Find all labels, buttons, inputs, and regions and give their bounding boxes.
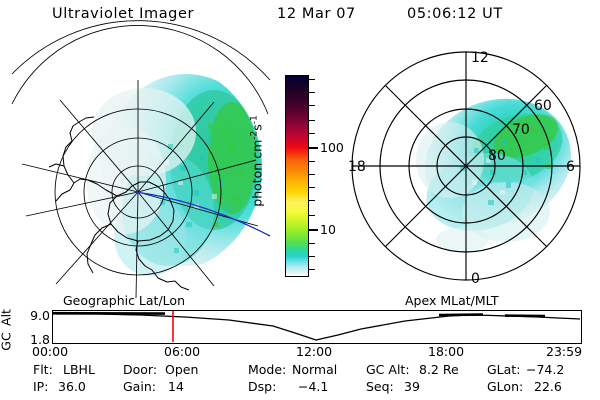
colorbar-minor-tick xyxy=(309,256,315,257)
status-bar: Flt: LBHL Door: Open Mode: Normal GC Alt… xyxy=(0,364,600,398)
colorbar-major-tick-10 xyxy=(309,229,318,231)
status-gcalt-value: 8.2 Re xyxy=(419,364,459,377)
geographic-plot xyxy=(18,40,270,298)
instrument-title: Ultraviolet Imager xyxy=(52,6,194,22)
status-door-label: Door: xyxy=(123,364,157,377)
colorbar-title-text: photon cm xyxy=(250,140,265,207)
orbit-x-axis-labels: 00:00 06:00 12:00 18:00 23:59 xyxy=(0,346,600,362)
colorbar-tick-label-10: 10 xyxy=(320,224,336,237)
colorbar-minor-tick xyxy=(309,174,315,175)
status-gcalt-label: GC Alt: xyxy=(366,364,410,377)
colorbar-major-tick-100 xyxy=(309,147,318,149)
colorbar-minor-tick xyxy=(309,92,315,93)
status-door-value: Open xyxy=(165,364,198,377)
colorbar-minor-tick xyxy=(309,215,315,216)
status-ip-label: IP: xyxy=(33,381,48,394)
colorbar-title: photon cm-2s-1 xyxy=(249,115,264,206)
orbit-y-axis-labels: 9.0 1.8 xyxy=(18,310,50,344)
colorbar-minor-tick xyxy=(309,243,315,244)
status-mode-label: Mode: xyxy=(248,364,286,377)
colorbar-minor-tick xyxy=(309,161,315,162)
status-dsp-label: Dsp: xyxy=(248,381,276,394)
mlat-label-60: 60 xyxy=(534,98,552,114)
observation-time: 05:06:12 UT xyxy=(407,6,503,22)
colorbar-minor-tick xyxy=(309,200,315,201)
apex-polar-plot: 12 18 6 0 60 70 80 xyxy=(340,40,592,298)
mlt-spokes xyxy=(352,52,580,280)
aurora-emission-apex xyxy=(408,80,587,253)
colorbar-unit: s xyxy=(250,124,265,131)
colorbar-minor-tick xyxy=(309,187,315,188)
orbit-x-label-1200: 12:00 xyxy=(296,346,332,359)
status-mode-value: Normal xyxy=(292,364,337,377)
orbit-altitude-curve xyxy=(53,311,580,342)
header-bar: Ultraviolet Imager 12 Mar 07 05:06:12 UT xyxy=(0,6,600,30)
orbit-y-axis-title: GC Alt xyxy=(0,304,14,350)
status-glon-value: 22.6 xyxy=(534,381,562,394)
mlat-label-70: 70 xyxy=(512,122,530,138)
status-glon-label: GLon: xyxy=(487,381,523,394)
orbit-altitude-panel[interactable]: GC Alt 9.0 1.8 00:00 06:00 12:00 18:00 2… xyxy=(0,300,600,358)
colorbar-minor-tick xyxy=(309,105,315,106)
status-ip-value: 36.0 xyxy=(58,381,86,394)
status-gain-value: 14 xyxy=(168,381,184,394)
colorbar-gradient-box xyxy=(285,75,309,277)
orbit-x-label-0000: 00:00 xyxy=(32,346,68,359)
orbit-plot-box xyxy=(52,310,582,344)
mlt-label-12: 12 xyxy=(471,50,489,66)
status-glat-value: −74.2 xyxy=(526,364,564,377)
status-filter-label: Flt: xyxy=(33,364,53,377)
colorbar-gradient xyxy=(286,76,308,276)
status-seq-value: 39 xyxy=(404,381,420,394)
orbit-x-label-2359: 23:59 xyxy=(546,346,582,359)
colorbar-exponent-1: -2 xyxy=(249,131,259,140)
colorbar-minor-tick xyxy=(309,120,315,121)
colorbar-minor-tick xyxy=(309,269,315,270)
status-glat-label: GLat: xyxy=(487,364,520,377)
status-seq-label: Seq: xyxy=(366,381,394,394)
observation-date: 12 Mar 07 xyxy=(277,6,356,22)
colorbar-legend: photon cm-2s-1 100 10 xyxy=(262,60,338,292)
colorbar-minor-tick xyxy=(309,79,315,80)
mlt-label-18: 18 xyxy=(348,159,366,175)
colorbar-exponent-2: -1 xyxy=(249,115,259,124)
mlt-label-0: 0 xyxy=(471,271,480,287)
orbit-y-label-max: 9.0 xyxy=(30,310,50,323)
colorbar-axis: 100 10 xyxy=(309,75,338,277)
aurora-emission-geographic xyxy=(86,74,270,276)
geographic-image-panel[interactable]: Geographic Lat/Lon xyxy=(18,40,270,298)
status-dsp-value: −4.1 xyxy=(298,381,328,394)
orbit-x-label-0600: 06:00 xyxy=(164,346,200,359)
status-filter-value: LBHL xyxy=(63,364,95,377)
colorbar-minor-tick xyxy=(309,133,315,134)
orbit-x-label-1800: 18:00 xyxy=(428,346,464,359)
mlat-label-80: 80 xyxy=(488,148,506,164)
mlt-label-6: 6 xyxy=(566,159,575,175)
status-gain-label: Gain: xyxy=(123,381,156,394)
apex-polar-panel[interactable]: 12 18 6 0 60 70 80 Apex MLat/MLT xyxy=(340,40,592,298)
orbit-y-title-alt: Alt xyxy=(0,309,14,326)
